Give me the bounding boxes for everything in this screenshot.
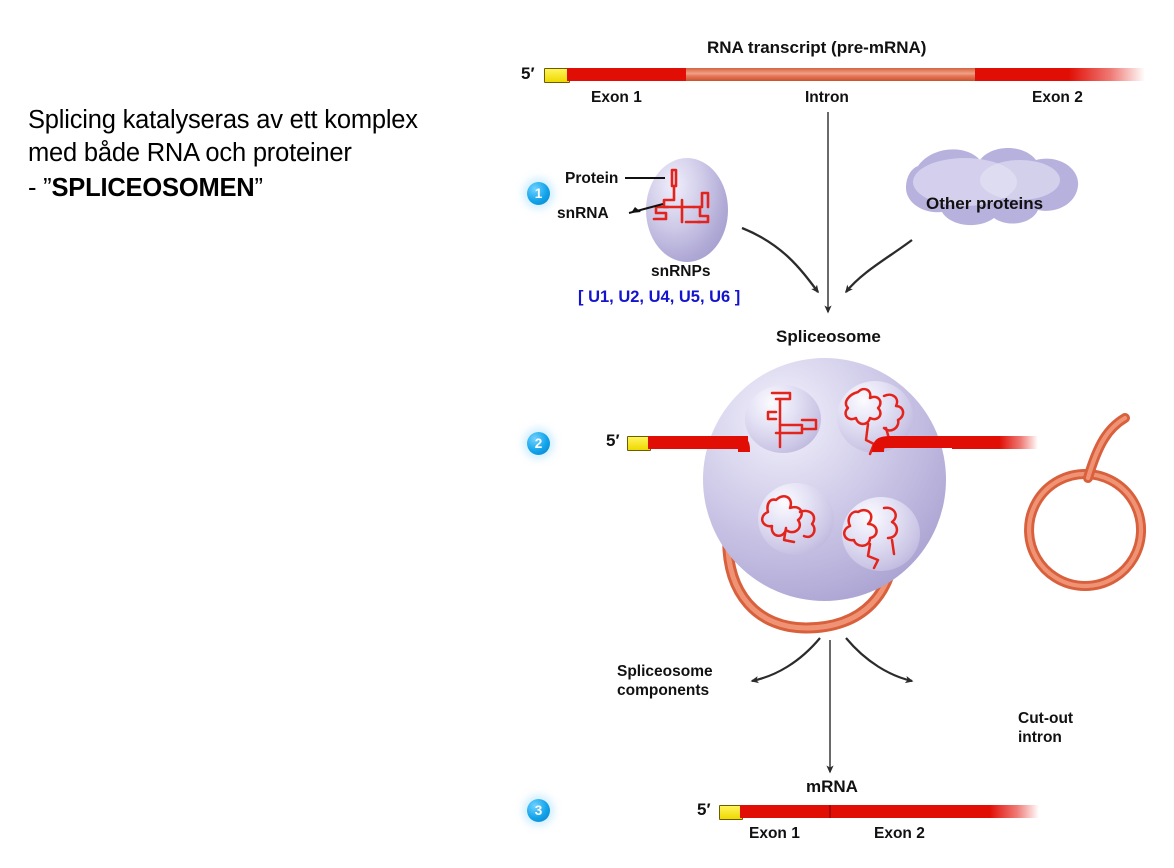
caption-line-2: med både RNA och proteiner	[28, 137, 498, 170]
components-out-arrow	[752, 638, 820, 681]
exon2-bar-top	[975, 68, 1145, 81]
mrna-title: mRNA	[806, 777, 858, 797]
five-prime-label-bottom: 5′	[697, 800, 711, 820]
exon2-bar-middle-fade	[952, 436, 1038, 449]
step-marker-1: 1	[527, 182, 550, 205]
mrna-exon-junction-mark	[829, 805, 831, 818]
intron-label-top: Intron	[805, 89, 849, 107]
caption-line-3: - ”SPLICEOSOMEN”	[28, 172, 498, 205]
other-proteins-join-arrow	[846, 240, 912, 292]
intron-bar-top	[686, 68, 976, 81]
caption-spliceosomen: SPLICEOSOMEN	[51, 174, 254, 202]
caption-quote-end: ”	[255, 174, 263, 202]
mrna-exon1-label: Exon 1	[749, 825, 800, 843]
rna-transcript-title: RNA transcript (pre-mRNA)	[707, 38, 926, 58]
step-marker-2: 2	[527, 432, 550, 455]
spliceosome-sphere	[703, 358, 946, 601]
components-line-1: Spliceosome	[617, 663, 713, 680]
snrnp-join-arrow	[742, 228, 818, 292]
step-marker-3: 3	[527, 799, 550, 822]
exon1-bar-top	[567, 68, 687, 81]
intron-out-arrow	[846, 638, 912, 681]
slide-caption: Splicing katalyseras av ett komplex med …	[28, 104, 498, 205]
snrnp-subunits-label: [ U1, U2, U4, U5, U6 ]	[578, 288, 740, 307]
snrnp-subunit-bottom-left	[758, 483, 834, 555]
protein-label: Protein	[565, 170, 618, 188]
cutout-line-1: Cut-out	[1018, 710, 1073, 727]
mrna-exon2-bar	[929, 805, 1039, 818]
exon1-label-top: Exon 1	[591, 89, 642, 107]
slide-canvas: Splicing katalyseras av ett komplex med …	[0, 0, 1174, 868]
five-prime-label-top: 5′	[521, 64, 535, 84]
cut-out-intron-lariat	[1029, 418, 1141, 586]
other-proteins-label: Other proteins	[926, 194, 1043, 214]
caption-dash: - ”	[28, 174, 51, 202]
cut-out-intron-label: Cut-out intron	[1018, 710, 1073, 748]
mrna-exon1-bar	[740, 805, 930, 818]
snrnp-subunit-top-left	[745, 385, 821, 453]
exon2-label-top: Exon 2	[1032, 89, 1083, 107]
snrna-label: snRNA	[557, 205, 609, 223]
snrnp-subunit-bottom-right	[842, 497, 920, 571]
five-prime-label-middle: 5′	[606, 431, 620, 451]
components-line-2: components	[617, 682, 709, 699]
spliceosome-label: Spliceosome	[776, 327, 881, 347]
cutout-line-2: intron	[1018, 729, 1062, 746]
snrnp-particle	[646, 158, 728, 262]
snrnp-subunit-top-right	[837, 381, 913, 453]
snrna-leader-arrow	[631, 207, 641, 213]
spliceosome-components-label: Spliceosome components	[617, 663, 713, 701]
exon1-bar-middle	[648, 436, 748, 449]
snrnps-label: snRNPs	[651, 263, 710, 281]
caption-line-1: Splicing katalyseras av ett komplex	[28, 104, 498, 137]
mrna-exon2-label: Exon 2	[874, 825, 925, 843]
